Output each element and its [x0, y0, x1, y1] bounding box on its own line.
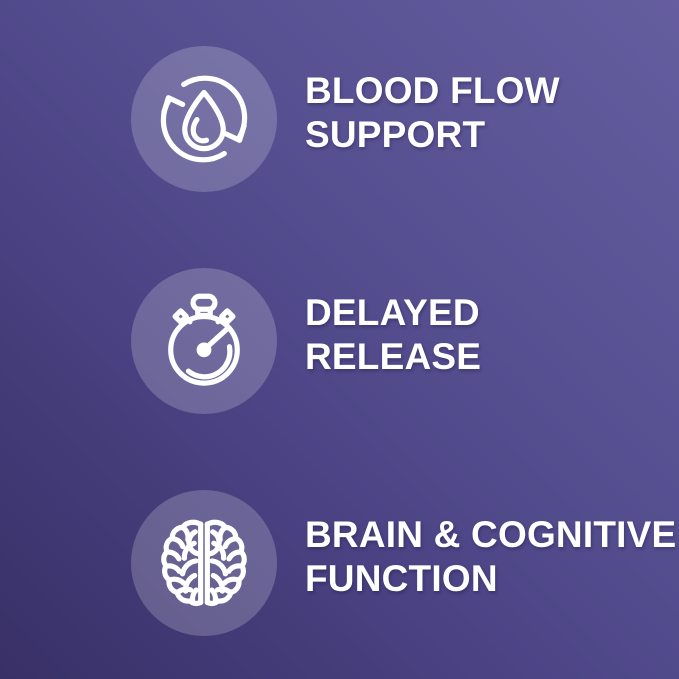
- feature-row-delayed-release: Delayed Release: [0, 266, 679, 416]
- icon-badge-blood-flow: [131, 46, 277, 192]
- feature-graphic-canvas: Blood Flow Support: [0, 0, 679, 679]
- feature-row-blood-flow: Blood Flow Support: [0, 44, 679, 194]
- brain-icon: [152, 511, 256, 615]
- feature-label-delayed-release: Delayed Release: [305, 291, 481, 378]
- blood-flow-recycle-drop-icon: [152, 67, 256, 171]
- stopwatch-icon: [152, 289, 256, 393]
- icon-badge-delayed-release: [131, 268, 277, 414]
- icon-badge-brain-function: [131, 490, 277, 636]
- feature-label-brain-function: Brain & Cognitive Function: [305, 513, 676, 600]
- feature-label-blood-flow: Blood Flow Support: [305, 69, 560, 156]
- feature-row-brain-function: Brain & Cognitive Function: [0, 488, 679, 638]
